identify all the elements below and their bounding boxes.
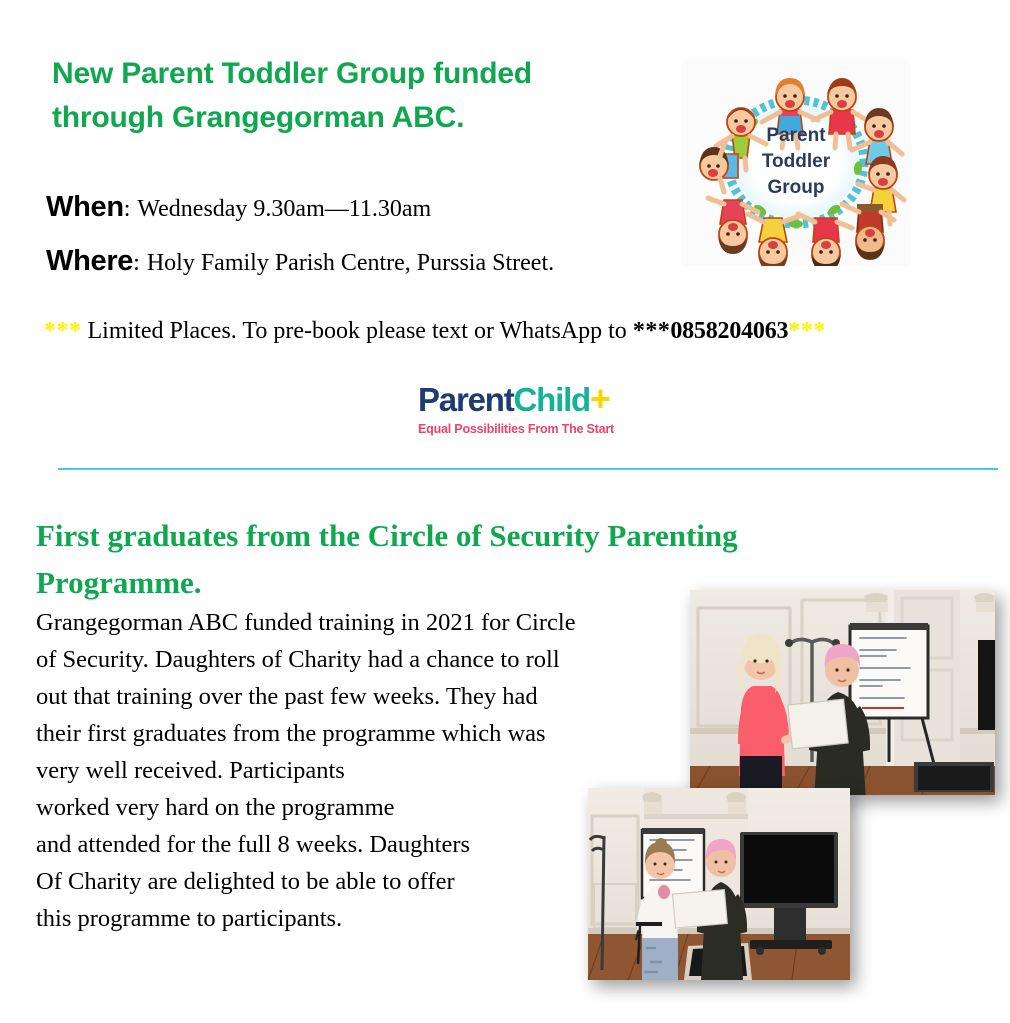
phone-number[interactable]: 0858204063 [670,318,788,344]
parentchild-word-parent: Parent [418,381,514,418]
section-divider [58,468,998,470]
when-row: When:Wednesday 9.30am—11.30am [46,191,431,224]
graduate-receiving-certificate-photo-graphic [588,788,850,980]
booking-instruction-line: *** Limited Places. To pre-book please t… [44,318,826,345]
section-one-heading: New Parent Toddler Group funded through … [52,52,652,140]
body-line: of Security. Daughters of Charity had a … [36,641,676,678]
parentchild-tagline: Equal Possibilities From The Start [418,422,598,436]
where-label: Where [46,245,133,277]
graduate-receiving-certificate-photo [588,788,850,980]
body-line: and attended for the full 8 weeks. Daugh… [36,826,676,863]
certificate-presentation-photo-graphic [690,590,995,795]
body-line: out that training over the past few week… [36,678,676,715]
pre-phone-asterisks: *** [633,318,671,344]
where-colon: : [133,250,140,276]
trailing-asterisks: *** [788,318,826,344]
parentchild-word-child: Child [514,381,590,418]
parentchild-wordmark: ParentChild+ [418,381,598,418]
body-line: very well received. Participants [36,752,676,789]
parent-toddler-group-section: New Parent Toddler Group funded through … [0,0,1010,480]
where-row: Where:Holy Family Parish Centre, Purssia… [46,245,554,278]
body-line: this programme to participants. [36,900,676,937]
parentchild-plus-logo: ParentChild+ Equal Possibilities From Th… [418,381,598,443]
section-two-heading-line2: Programme. [36,565,202,600]
section-one-heading-line1: New Parent Toddler Group funded [52,57,532,90]
body-line: Grangegorman ABC funded training in 2021… [36,604,676,641]
circle-of-security-section: First graduates from the Circle of Secur… [0,480,1010,1023]
body-line: Of Charity are delighted to be able to o… [36,863,676,900]
certificate-presentation-photo [690,590,995,795]
section-two-heading-line1: First graduates from the Circle of Secur… [36,518,738,553]
body-line: their first graduates from the programme… [36,715,676,752]
parent-toddler-group-logo: Parent Toddler Group [682,58,910,266]
when-label: When [46,191,124,223]
section-two-body-text: Grangegorman ABC funded training in 2021… [36,604,676,937]
section-one-heading-line2: through Grangegorman ABC. [52,96,652,140]
booking-text: Limited Places. To pre-book please text … [82,318,633,344]
where-value: Holy Family Parish Centre, Purssia Stree… [140,250,554,276]
body-line: worked very hard on the programme [36,789,676,826]
when-value: Wednesday 9.30am—11.30am [130,196,431,222]
leading-asterisks: *** [44,318,82,344]
children-circle-illustration [682,58,910,266]
plus-icon: + [590,378,610,419]
